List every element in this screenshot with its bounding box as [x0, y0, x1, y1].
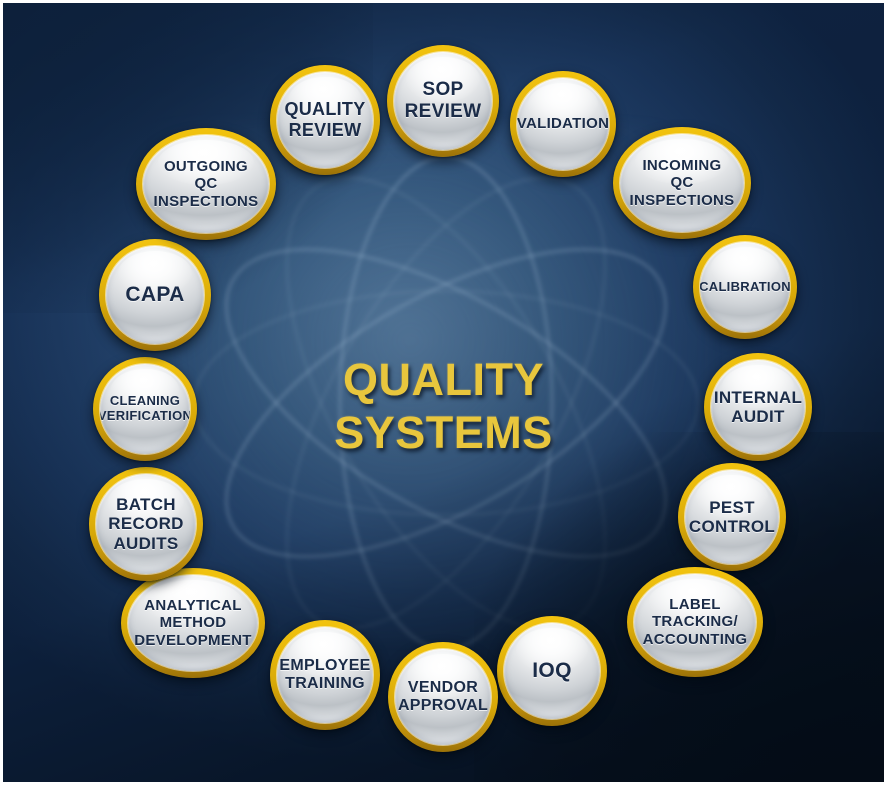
- node-label: CAPA: [121, 283, 188, 307]
- node-face: VENDOR APPROVAL: [395, 649, 491, 745]
- node-incoming-qc[interactable]: INCOMING QC INSPECTIONS: [613, 127, 751, 239]
- node-vendor-approval[interactable]: VENDOR APPROVAL: [388, 642, 498, 752]
- node-face: IOQ: [504, 623, 600, 719]
- node-label: INTERNAL AUDIT: [711, 388, 805, 427]
- node-capa[interactable]: CAPA: [99, 239, 211, 351]
- page-title: QUALITY SYSTEMS: [234, 353, 654, 459]
- node-analytical-method[interactable]: ANALYTICAL METHOD DEVELOPMENT: [121, 568, 265, 678]
- node-label: CLEANING VERIFICATION: [100, 394, 190, 424]
- node-pest-control[interactable]: PEST CONTROL: [678, 463, 786, 571]
- node-face: OUTGOING QC INSPECTIONS: [143, 135, 269, 233]
- node-validation[interactable]: VALIDATION: [510, 71, 616, 177]
- node-label: OUTGOING QC INSPECTIONS: [150, 158, 263, 209]
- node-face: INTERNAL AUDIT: [711, 360, 805, 454]
- node-face: BATCH RECORD AUDITS: [96, 474, 196, 574]
- node-label: VENDOR APPROVAL: [395, 679, 491, 715]
- node-label: EMPLOYEE TRAINING: [277, 657, 373, 693]
- node-employee-training[interactable]: EMPLOYEE TRAINING: [270, 620, 380, 730]
- node-cleaning-verification[interactable]: CLEANING VERIFICATION: [93, 357, 197, 461]
- node-sop-review[interactable]: SOP REVIEW: [387, 45, 499, 157]
- node-label: BATCH RECORD AUDITS: [104, 495, 187, 553]
- node-ioq[interactable]: IOQ: [497, 616, 607, 726]
- node-face: ANALYTICAL METHOD DEVELOPMENT: [128, 575, 258, 671]
- node-label: VALIDATION: [517, 115, 609, 132]
- node-face: QUALITY REVIEW: [277, 72, 373, 168]
- node-label: ANALYTICAL METHOD DEVELOPMENT: [130, 597, 255, 648]
- node-face: VALIDATION: [517, 78, 609, 170]
- node-label: SOP REVIEW: [401, 79, 486, 122]
- node-label: CALIBRATION: [700, 280, 790, 295]
- node-face: INCOMING QC INSPECTIONS: [620, 134, 744, 232]
- quality-systems-diagram: QUALITY SYSTEMS SOP REVIEWVALIDATIONINCO…: [0, 0, 887, 785]
- node-label: QUALITY REVIEW: [280, 99, 369, 140]
- node-quality-review[interactable]: QUALITY REVIEW: [270, 65, 380, 175]
- node-outgoing-qc[interactable]: OUTGOING QC INSPECTIONS: [136, 128, 276, 240]
- node-face: CAPA: [106, 246, 204, 344]
- node-face: CALIBRATION: [700, 242, 790, 332]
- node-label: LABEL TRACKING/ ACCOUNTING: [639, 596, 752, 647]
- node-face: PEST CONTROL: [685, 470, 779, 564]
- node-face: LABEL TRACKING/ ACCOUNTING: [634, 574, 756, 670]
- node-face: CLEANING VERIFICATION: [100, 364, 190, 454]
- node-label: INCOMING QC INSPECTIONS: [626, 157, 739, 208]
- node-face: EMPLOYEE TRAINING: [277, 627, 373, 723]
- node-label-tracking[interactable]: LABEL TRACKING/ ACCOUNTING: [627, 567, 763, 677]
- node-label: IOQ: [528, 659, 575, 683]
- node-batch-record-audits[interactable]: BATCH RECORD AUDITS: [89, 467, 203, 581]
- node-face: SOP REVIEW: [394, 52, 492, 150]
- node-label: PEST CONTROL: [685, 498, 779, 537]
- node-internal-audit[interactable]: INTERNAL AUDIT: [704, 353, 812, 461]
- node-calibration[interactable]: CALIBRATION: [693, 235, 797, 339]
